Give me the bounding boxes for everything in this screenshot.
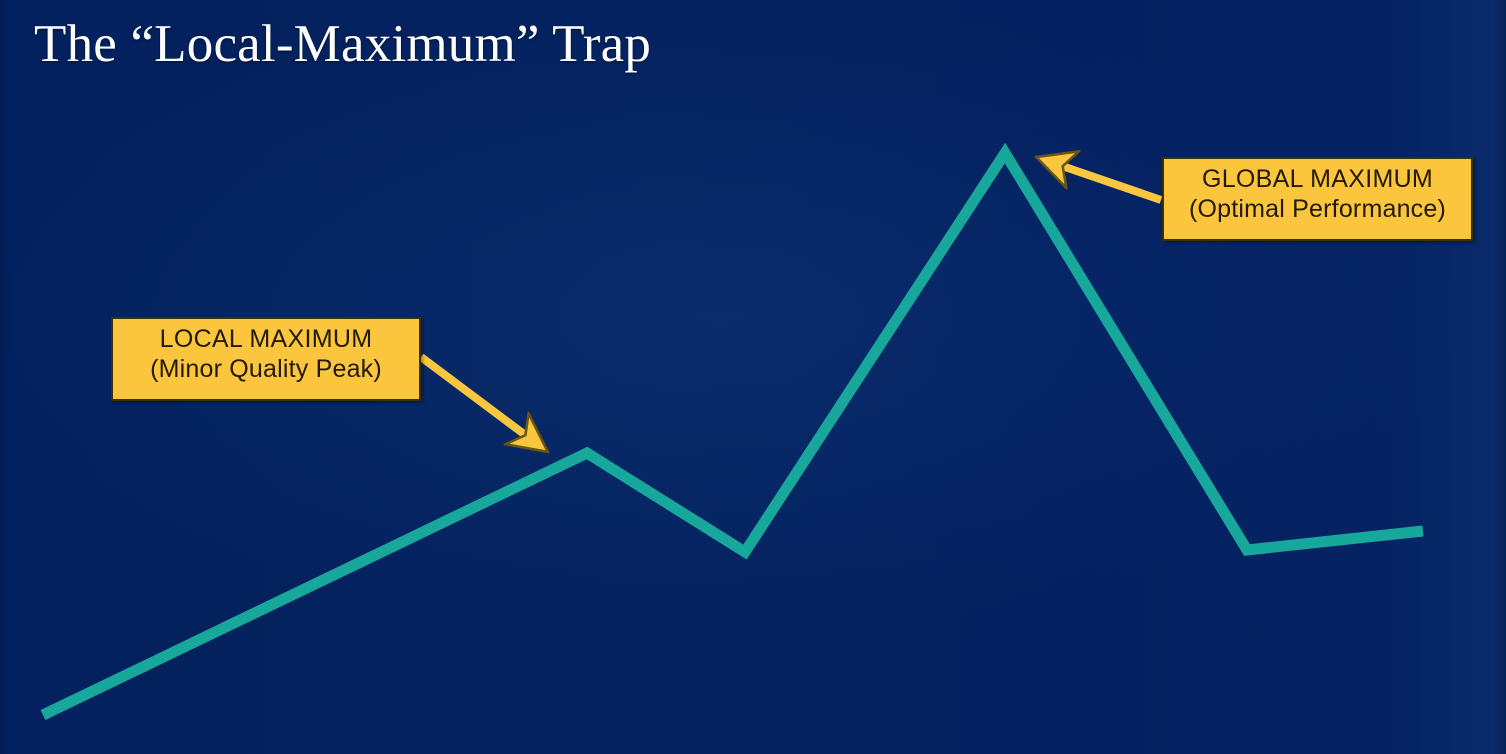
local-maximum-callout: LOCAL MAXIMUM (Minor Quality Peak): [111, 317, 421, 401]
local-maximum-callout-subtitle: (Minor Quality Peak): [123, 355, 409, 385]
global-maximum-callout: GLOBAL MAXIMUM (Optimal Performance): [1162, 157, 1473, 241]
slide-canvas: The “Local-Maximum” Trap LOCAL MAXIMUM (…: [0, 0, 1506, 754]
local-maximum-callout-title: LOCAL MAXIMUM: [123, 325, 409, 355]
global-maximum-callout-title: GLOBAL MAXIMUM: [1174, 165, 1461, 195]
annotation-arrows: [421, 161, 1161, 444]
global-maximum-callout-subtitle: (Optimal Performance): [1174, 195, 1461, 225]
global-maximum-arrow: [1048, 161, 1161, 200]
local-maximum-arrow: [421, 357, 538, 444]
